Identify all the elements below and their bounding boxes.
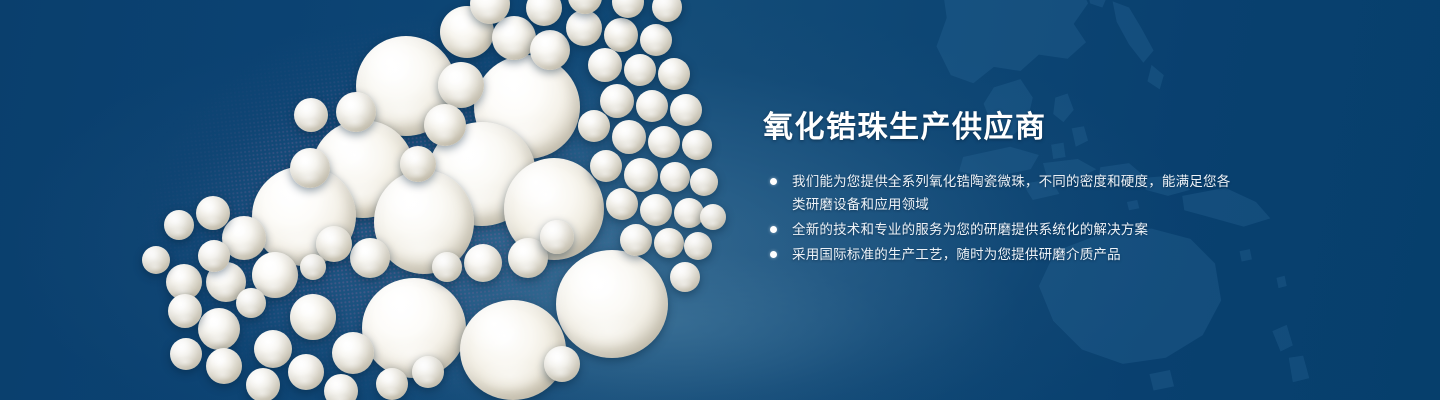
list-item: 采用国际标准的生产工艺，随时为您提供研磨介质产品 <box>766 243 1236 266</box>
list-item-label: 采用国际标准的生产工艺，随时为您提供研磨介质产品 <box>792 243 1236 266</box>
list-item: 全新的技术和专业的服务为您的研磨提供系统化的解决方案 <box>766 218 1236 241</box>
feature-list: 我们能为您提供全系列氧化锆陶瓷微珠，不同的密度和硬度，能满足您各类研磨设备和应用… <box>766 170 1236 268</box>
bullet-dot-icon <box>770 178 777 185</box>
bullet-dot-icon <box>770 251 777 258</box>
bullet-dot-icon <box>770 226 777 233</box>
hero-banner: 氧化锆珠生产供应商 我们能为您提供全系列氧化锆陶瓷微珠，不同的密度和硬度，能满足… <box>0 0 1440 400</box>
banner-copy: 氧化锆珠生产供应商 我们能为您提供全系列氧化锆陶瓷微珠，不同的密度和硬度，能满足… <box>763 0 1363 400</box>
list-item-label: 全新的技术和专业的服务为您的研磨提供系统化的解决方案 <box>792 218 1236 241</box>
list-item-label: 我们能为您提供全系列氧化锆陶瓷微珠，不同的密度和硬度，能满足您各类研磨设备和应用… <box>792 170 1236 216</box>
list-item: 我们能为您提供全系列氧化锆陶瓷微珠，不同的密度和硬度，能满足您各类研磨设备和应用… <box>766 170 1236 216</box>
page-title: 氧化锆珠生产供应商 <box>763 110 1047 146</box>
zirconia-beads-image <box>0 0 760 400</box>
